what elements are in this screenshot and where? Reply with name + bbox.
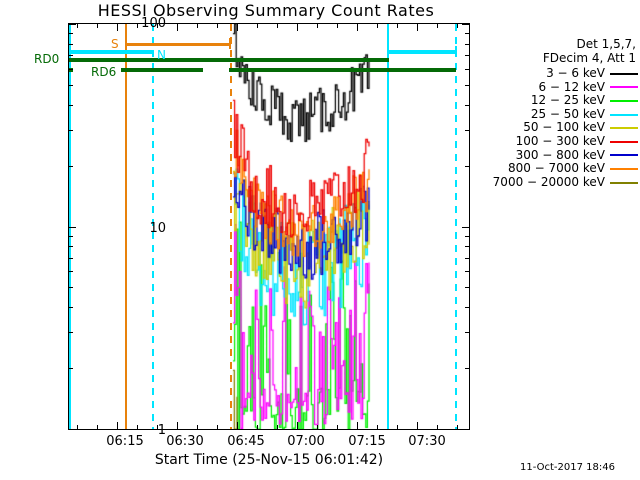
xtick-minor-top [337, 24, 338, 28]
legend-swatch-5 [610, 135, 640, 149]
legend-swatch-0 [610, 67, 640, 81]
ytick-minor-right [465, 130, 469, 131]
ytick-minor-right [465, 33, 469, 34]
ytick-minor-right [465, 105, 469, 106]
legend-detector-line: Det 1,5,7, [478, 38, 640, 52]
xtick-minor-bottom [197, 425, 198, 429]
xtick-major-top [237, 24, 238, 31]
legend-swatch-1 [610, 81, 640, 95]
legend-swatch-3 [610, 108, 640, 122]
ytick-100: 100 [106, 16, 166, 31]
xtick-major-top [357, 24, 358, 31]
legend-swatch-6 [610, 149, 640, 163]
plot-window: HESSI Observing Summary Count Rates [0, 0, 640, 480]
xtick-minor-bottom [437, 425, 438, 429]
xtick-minor-bottom [377, 425, 378, 429]
saa-bar-end-tick [229, 38, 231, 49]
xtick-0630: 06:30 [150, 434, 220, 449]
ytick-minor-left [69, 332, 73, 333]
xtick-minor-bottom [397, 425, 398, 429]
xtick-minor-top [397, 24, 398, 28]
ytick-minor-right [465, 307, 469, 308]
ytick-minor-left [69, 271, 73, 272]
y-axis-title: Count Rate (s⁻¹ detector⁻¹) [0, 0, 2, 152]
xtick-major-bottom [297, 422, 298, 429]
ytick-minor-left [69, 258, 73, 259]
xtick-minor-bottom [277, 425, 278, 429]
legend-swatch-7 [610, 162, 640, 176]
ytick-minor-left [69, 130, 73, 131]
xtick-minor-top [257, 24, 258, 28]
ytick-minor-left [69, 246, 73, 247]
xtick-minor-top [457, 24, 458, 28]
xtick-minor-top [197, 24, 198, 28]
legend-table: 3 − 6 keV6 − 12 keV12 − 25 keV25 − 50 ke… [493, 67, 640, 189]
rd6-bar-right [387, 68, 456, 72]
ytick-minor-right [465, 258, 469, 259]
xtick-0730: 07:30 [392, 434, 462, 449]
annotation-n: N [157, 48, 166, 62]
ytick-minor-right [465, 236, 469, 237]
ytick-minor-right [465, 69, 469, 70]
xtick-minor-bottom [457, 425, 458, 429]
xtick-minor-top [317, 24, 318, 28]
legend-label-4: 50 − 100 keV [493, 121, 610, 135]
ytick-major-right [462, 429, 469, 430]
ytick-minor-left [69, 166, 73, 167]
ytick-minor-left [69, 85, 73, 86]
ytick-minor-right [465, 332, 469, 333]
legend-row: 7000 − 20000 keV [493, 176, 640, 190]
ytick-major-left [69, 227, 76, 228]
legend-label-8: 7000 − 20000 keV [493, 176, 610, 190]
xtick-minor-bottom [97, 425, 98, 429]
xtick-minor-bottom [317, 425, 318, 429]
legend-row: 12 − 25 keV [493, 94, 640, 108]
ytick-minor-left [69, 55, 73, 56]
xtick-minor-bottom [77, 425, 78, 429]
ytick-minor-left [69, 307, 73, 308]
ytick-minor-left [69, 368, 73, 369]
ytick-minor-left [69, 105, 73, 106]
xtick-major-top [417, 24, 418, 31]
xtick-major-bottom [417, 422, 418, 429]
legend-swatch-2 [610, 94, 640, 108]
legend-label-2: 12 − 25 keV [493, 94, 610, 108]
annotation-s: S [111, 37, 119, 51]
ytick-minor-right [465, 166, 469, 167]
ytick-minor-right [465, 55, 469, 56]
legend-swatch-8 [610, 176, 640, 190]
legend-label-3: 25 − 50 keV [493, 108, 610, 122]
legend: Det 1,5,7, FDecim 4, Att 1 3 − 6 keV6 − … [478, 38, 640, 189]
legend-row: 25 − 50 keV [493, 108, 640, 122]
legend-label-1: 6 − 12 keV [493, 81, 610, 95]
xtick-minor-bottom [337, 425, 338, 429]
ytick-major-right [462, 24, 469, 25]
annotation-rd6: RD6 [91, 65, 116, 79]
event-line-night-end [455, 24, 457, 429]
rd0-bar [69, 58, 389, 62]
xtick-minor-top [97, 24, 98, 28]
xtick-minor-top [377, 24, 378, 28]
annotation-rd0: RD0 [34, 52, 59, 66]
ytick-major-left [69, 24, 76, 25]
xtick-major-top [297, 24, 298, 31]
xtick-minor-top [437, 24, 438, 28]
ytick-minor-left [69, 236, 73, 237]
event-line-day-start [387, 24, 389, 429]
legend-row: 300 − 800 keV [493, 149, 640, 163]
render-timestamp: 11-Oct-2017 18:46 [520, 462, 615, 473]
ytick-minor-left [69, 33, 73, 34]
ytick-minor-right [465, 271, 469, 272]
xtick-minor-top [217, 24, 218, 28]
xtick-minor-bottom [257, 425, 258, 429]
ytick-major-left [69, 429, 76, 430]
xtick-0700: 07:00 [271, 434, 341, 449]
xtick-major-bottom [177, 422, 178, 429]
ytick-minor-left [69, 69, 73, 70]
xtick-minor-top [277, 24, 278, 28]
page-title: HESSI Observing Summary Count Rates [0, 1, 532, 20]
legend-row: 50 − 100 keV [493, 121, 640, 135]
night-bar-right [387, 50, 456, 54]
xtick-minor-bottom [217, 425, 218, 429]
ytick-minor-left [69, 44, 73, 45]
legend-label-6: 300 − 800 keV [493, 149, 610, 163]
xtick-major-bottom [357, 422, 358, 429]
ytick-10: 10 [106, 221, 166, 236]
legend-label-0: 3 − 6 keV [493, 67, 610, 81]
ytick-minor-right [465, 287, 469, 288]
legend-label-7: 800 − 7000 keV [493, 162, 610, 176]
saa-bar [125, 43, 230, 46]
xtick-major-bottom [237, 422, 238, 429]
ytick-minor-right [465, 44, 469, 45]
ytick-minor-right [465, 246, 469, 247]
ytick-minor-right [465, 368, 469, 369]
legend-fdecim-line: FDecim 4, Att 1 [478, 52, 640, 66]
legend-row: 100 − 300 keV [493, 135, 640, 149]
legend-swatch-4 [610, 121, 640, 135]
event-line-saa-end [230, 24, 232, 429]
saa-bar-start-tick [125, 38, 127, 49]
legend-row: 800 − 7000 keV [493, 162, 640, 176]
x-axis-title: Start Time (25-Nov-15 06:01:42) [68, 452, 470, 468]
xtick-major-top [177, 24, 178, 31]
rd6-bar-left [121, 68, 203, 72]
legend-label-5: 100 − 300 keV [493, 135, 610, 149]
legend-row: 6 − 12 keV [493, 81, 640, 95]
night-bar-end-tick [455, 46, 457, 57]
xtick-minor-top [77, 24, 78, 28]
legend-row: 3 − 6 keV [493, 67, 640, 81]
ytick-minor-left [69, 287, 73, 288]
ytick-minor-right [465, 85, 469, 86]
ytick-major-right [462, 227, 469, 228]
rd6-bar-mid [229, 68, 389, 72]
